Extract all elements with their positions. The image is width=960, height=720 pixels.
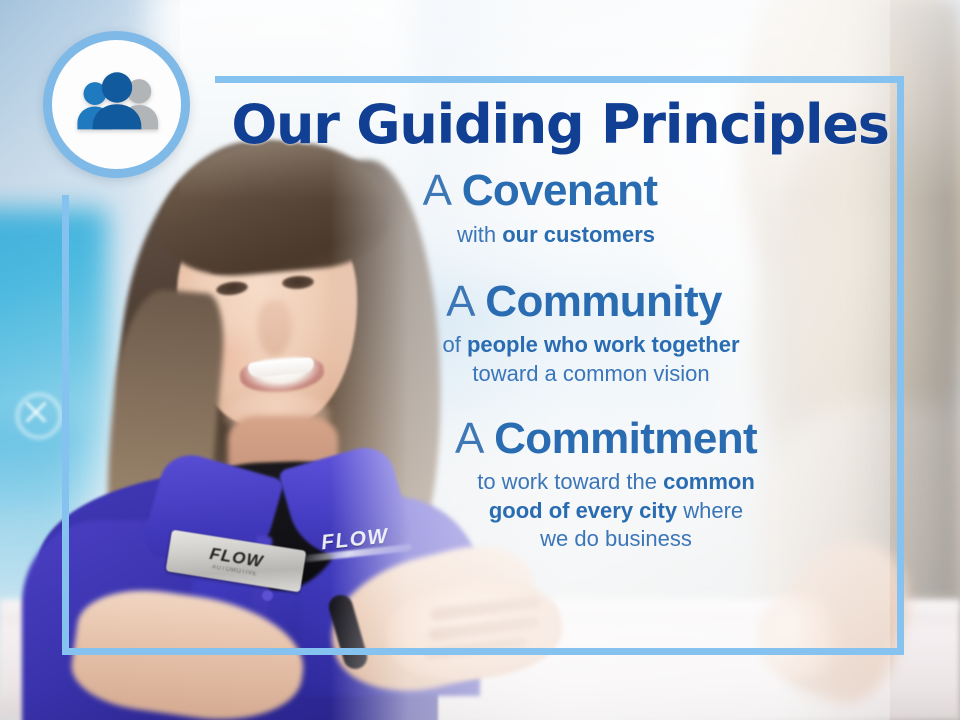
principle-covenant-sub1-bold: our customers <box>502 222 655 247</box>
people-group-badge <box>43 31 190 178</box>
principle-community-heading: A Community <box>215 279 905 326</box>
people-group-icon <box>71 70 163 140</box>
principle-community-word: Community <box>485 277 722 326</box>
copy-block: Our Guiding Principles A Covenant with o… <box>215 76 905 553</box>
principle-covenant-subtext: with our customers <box>215 221 905 249</box>
principle-commitment-sub-line1: to work toward the common <box>327 468 905 496</box>
principle-community-sub1-pre: of <box>442 332 466 357</box>
principle-commitment-word: Commitment <box>494 414 757 463</box>
principle-community-subtext: of people who work together toward a com… <box>215 331 905 387</box>
principle-covenant-sub1-pre: with <box>457 222 502 247</box>
principle-commitment-heading: A Commitment <box>215 416 905 463</box>
principle-covenant-heading: A Covenant <box>215 168 905 215</box>
principle-commitment-article: A <box>455 414 482 463</box>
blurred-brand-logo-mark-icon <box>26 402 46 422</box>
principle-community-sub-line1: of people who work together <box>277 331 905 359</box>
guiding-principles-graphic: FLOW FLOW AUTOMOTIVE <box>0 0 960 720</box>
page-title: Our Guiding Principles <box>215 98 905 152</box>
principle-commitment: A Commitment to work toward the common g… <box>215 416 905 553</box>
principle-commitment-sub2-bold: good of every city <box>489 498 677 523</box>
principle-community-sub1-bold: people who work together <box>467 332 740 357</box>
principle-commitment-sub1-bold: common <box>663 469 755 494</box>
principle-covenant-word: Covenant <box>462 166 658 215</box>
principle-commitment-sub-line2: good of every city where <box>327 497 905 525</box>
principle-community-article: A <box>446 277 473 326</box>
principle-community-sub-line2: toward a common vision <box>277 360 905 388</box>
principle-commitment-sub1-pre: to work toward the <box>477 469 663 494</box>
principle-commitment-subtext: to work toward the common good of every … <box>215 468 905 552</box>
principle-community: A Community of people who work together … <box>215 279 905 388</box>
principle-commitment-sub-line3: we do business <box>327 525 905 553</box>
principle-covenant-article: A <box>423 166 450 215</box>
principle-commitment-sub2-post: where <box>677 498 743 523</box>
subject-shirt-button-top <box>262 590 273 601</box>
principle-covenant: A Covenant with our customers <box>215 168 905 249</box>
